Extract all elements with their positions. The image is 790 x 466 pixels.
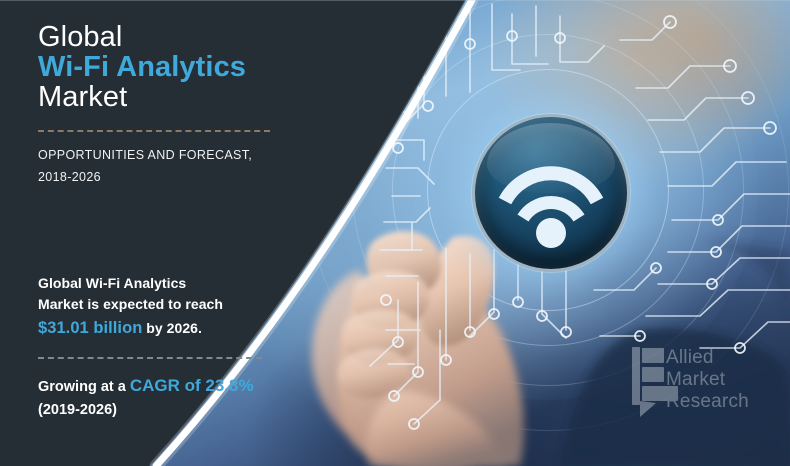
title-line-1: Global — [38, 22, 338, 52]
market-value: $31.01 billion — [38, 319, 142, 337]
cagr-period: (2019-2026) — [38, 399, 338, 421]
divider-dashed-gray — [38, 357, 262, 359]
cagr-value: CAGR of 23.8% — [130, 376, 254, 395]
cagr-line-1: Growing at a CAGR of 23.8% — [38, 373, 338, 399]
market-stat-block: Global Wi-Fi Analytics Market is expecte… — [38, 273, 338, 341]
subtitle-line-1: OPPORTUNITIES AND FORECAST, — [38, 145, 338, 167]
subtitle-line-2: 2018-2026 — [38, 167, 338, 189]
title-line-3: Market — [38, 82, 338, 112]
page-title: Global Wi-Fi Analytics Market — [38, 22, 338, 112]
cagr-block: Growing at a CAGR of 23.8% (2019-2026) — [38, 373, 338, 422]
text-panel: Global Wi-Fi Analytics Market OPPORTUNIT… — [0, 0, 470, 466]
market-value-suffix: by 2026. — [142, 320, 202, 336]
top-border — [0, 0, 790, 1]
cagr-prefix: Growing at a — [38, 379, 130, 395]
subtitle-block: OPPORTUNITIES AND FORECAST, 2018-2026 — [38, 145, 338, 189]
stat-line-3: $31.01 billion by 2026. — [38, 316, 338, 341]
title-line-2: Wi-Fi Analytics — [38, 52, 338, 82]
divider-dashed-tan — [38, 130, 270, 132]
stat-line-1: Global Wi-Fi Analytics — [38, 273, 338, 294]
stat-line-2: Market is expected to reach — [38, 294, 338, 315]
infographic-banner: Allied Market Research Global Wi-Fi Anal… — [0, 0, 790, 466]
